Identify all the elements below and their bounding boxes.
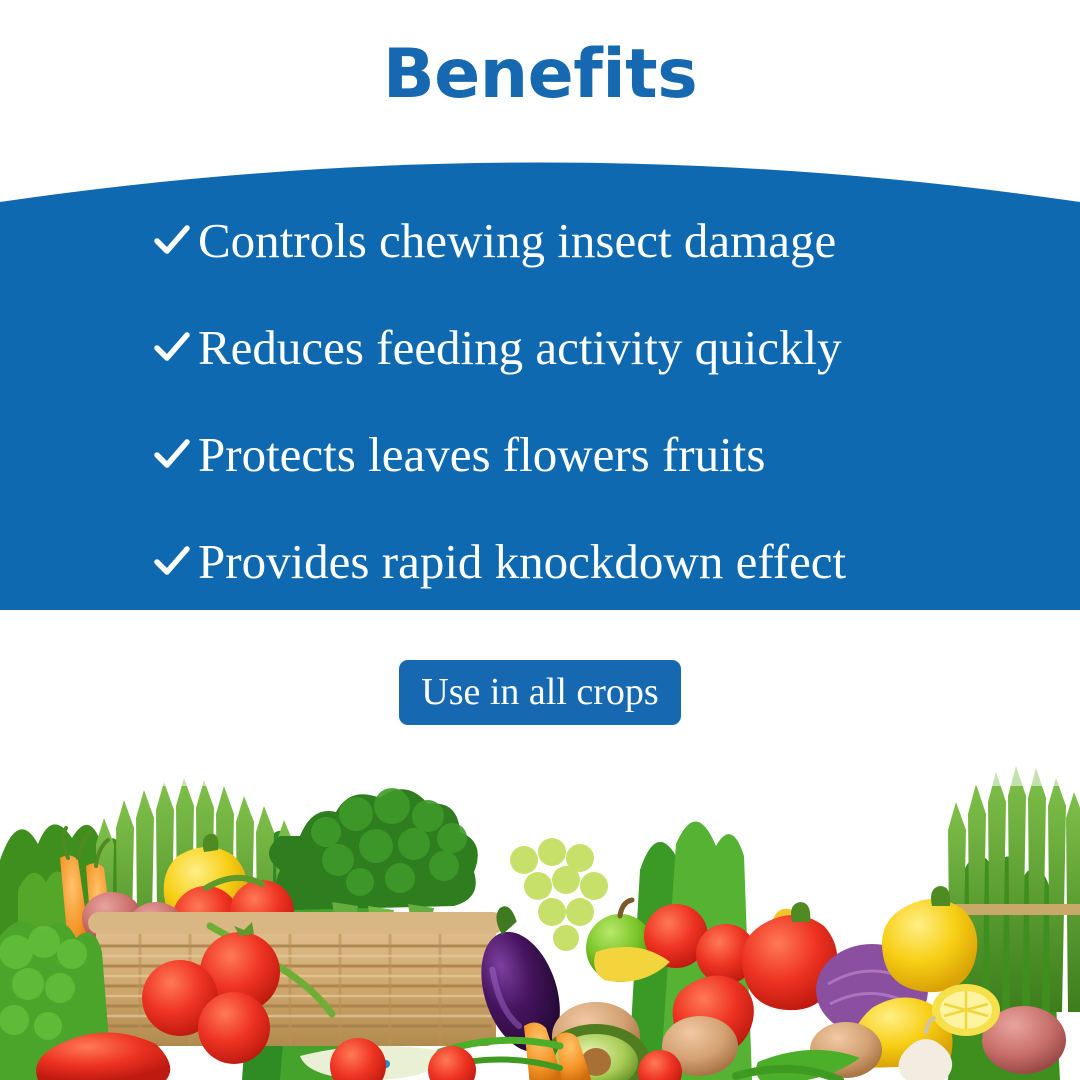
list-item: Reduces feeding activity quickly	[0, 294, 1080, 401]
check-icon	[152, 542, 192, 582]
list-item-label: Provides rapid knockdown effect	[198, 537, 846, 586]
list-item-label: Reduces feeding activity quickly	[198, 323, 842, 372]
list-item: Protects leaves flowers fruits	[0, 401, 1080, 508]
list-item-label: Controls chewing insect damage	[198, 216, 836, 265]
crops-badge-zone: Use in all crops	[0, 609, 1080, 754]
check-icon	[152, 328, 192, 368]
check-icon	[152, 435, 192, 475]
check-icon	[152, 221, 192, 261]
list-item: Controls chewing insect damage	[0, 187, 1080, 294]
list-item-label: Protects leaves flowers fruits	[198, 430, 765, 479]
list-item: Provides rapid knockdown effect	[0, 508, 1080, 615]
benefits-poster: Benefits Controls chewing insect damage …	[0, 0, 1080, 1080]
produce-photo	[0, 740, 1080, 1080]
page-title-zone: Benefits	[0, 0, 1080, 150]
produce-illustration	[0, 740, 1080, 1080]
use-in-all-crops-badge: Use in all crops	[399, 660, 680, 725]
benefits-list: Controls chewing insect damage Reduces f…	[0, 140, 1080, 610]
page-title: Benefits	[383, 41, 697, 109]
